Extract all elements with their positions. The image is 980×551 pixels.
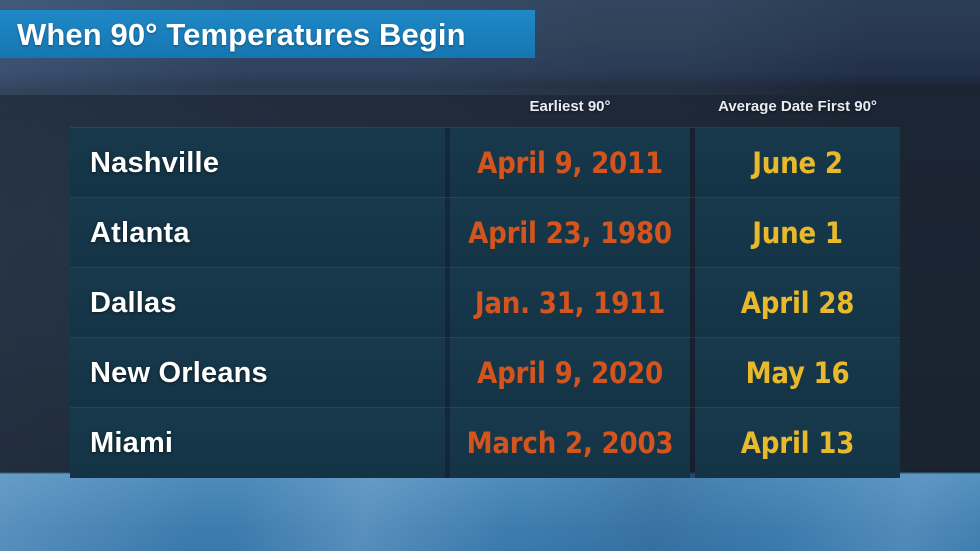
average-date: April 13 [741,426,854,460]
cell-average: May 16 [695,338,900,408]
earliest-date: April 9, 2020 [477,356,663,390]
cell-average: June 1 [695,198,900,268]
average-date: May 16 [746,356,850,390]
table-row: Atlanta April 23, 1980 June 1 [70,197,900,267]
page-title: When 90° Temperatures Begin [17,19,466,50]
average-date: April 28 [741,286,854,320]
cell-city: New Orleans [70,338,450,408]
city-name: New Orleans [90,357,268,390]
table-header-row: Earliest 90° Average Date First 90° [70,92,900,127]
cell-earliest: April 9, 2011 [450,128,690,198]
table-row: Nashville April 9, 2011 June 2 [70,127,900,197]
earliest-date: Jan. 31, 1911 [475,286,665,320]
bottom-blue-band [0,472,980,551]
city-name: Dallas [90,287,177,320]
city-name: Nashville [90,147,219,180]
temperature-table: Earliest 90° Average Date First 90° Nash… [70,92,900,472]
column-header-average: Average Date First 90° [695,98,900,115]
city-name: Miami [90,427,173,460]
cell-earliest: April 9, 2020 [450,338,690,408]
earliest-date: April 9, 2011 [477,146,663,180]
average-date: June 1 [752,216,843,250]
earliest-date: March 2, 2003 [467,426,674,460]
cell-earliest: Jan. 31, 1911 [450,268,690,338]
cell-earliest: March 2, 2003 [450,408,690,478]
table-row: Miami March 2, 2003 April 13 [70,407,900,477]
city-name: Atlanta [90,217,190,250]
cell-earliest: April 23, 1980 [450,198,690,268]
table-row: Dallas Jan. 31, 1911 April 28 [70,267,900,337]
cell-city: Atlanta [70,198,450,268]
cell-city: Nashville [70,128,450,198]
cell-city: Miami [70,408,450,478]
cell-average: April 13 [695,408,900,478]
cell-city: Dallas [70,268,450,338]
title-banner: When 90° Temperatures Begin [0,10,535,58]
average-date: June 2 [752,146,843,180]
cell-average: April 28 [695,268,900,338]
table-row: New Orleans April 9, 2020 May 16 [70,337,900,407]
weather-graphic: When 90° Temperatures Begin Earliest 90°… [0,0,980,551]
column-header-earliest: Earliest 90° [450,98,690,115]
earliest-date: April 23, 1980 [468,216,672,250]
cell-average: June 2 [695,128,900,198]
